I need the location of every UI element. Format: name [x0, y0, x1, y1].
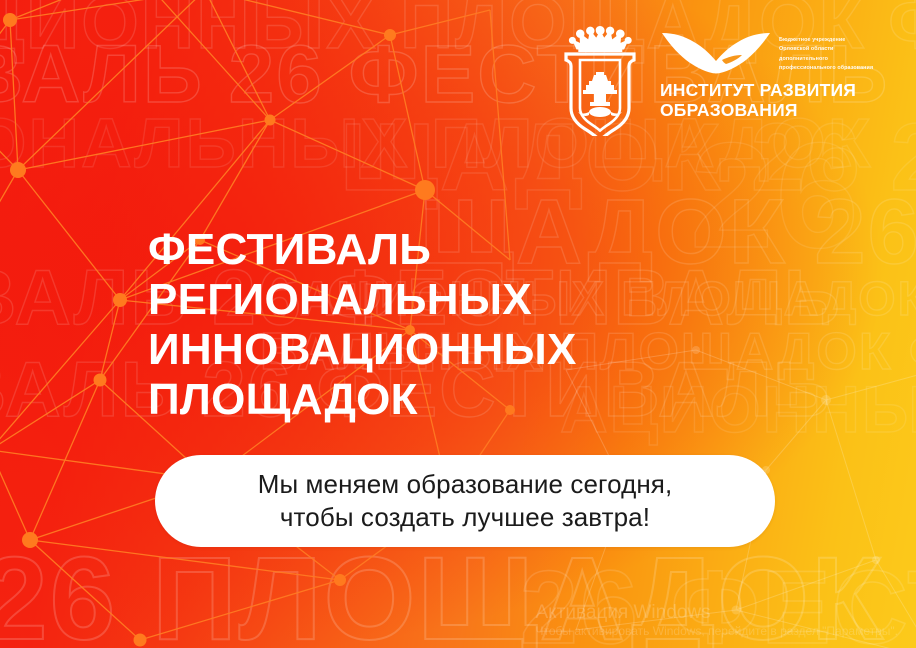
- tagline-line-1: Мы меняем образование сегодня,: [258, 468, 673, 501]
- institute-name-line2: ОБРАЗОВАНИЯ: [660, 101, 877, 121]
- tagline-line-2: чтобы создать лучшее завтра!: [258, 501, 673, 534]
- tagline-pill: Мы меняем образование сегодня, чтобы соз…: [155, 455, 775, 547]
- bird-wing-logo-icon: [660, 30, 772, 78]
- institute-subtitle-line: дополнительного: [779, 55, 877, 64]
- headline-line-4: ПЛОЩАДОК: [148, 375, 577, 425]
- coat-of-arms-icon: [556, 24, 644, 136]
- institute-subtitle-line: Орловской области: [779, 45, 877, 54]
- institute-subtitle: Бюджетное учреждение Орловской области д…: [779, 36, 877, 73]
- institute-name: ИНСТИТУТ РАЗВИТИЯ ОБРАЗОВАНИЯ: [660, 81, 877, 120]
- header-logo-group: Бюджетное учреждение Орловской области д…: [556, 24, 877, 136]
- institute-logo-block: Бюджетное учреждение Орловской области д…: [660, 24, 877, 120]
- poster-canvas: ЦИОННЫХ ПЛОЩАДОК ФЕ ВАЛЬ 26 ФЕСТИВАЛЬ ЩА…: [0, 0, 916, 648]
- institute-subtitle-line: Бюджетное учреждение: [779, 36, 877, 45]
- headline-line-2: РЕГИОНАЛЬНЫХ: [148, 275, 577, 325]
- headline-line-3: ИННОВАЦИОННЫХ: [148, 325, 577, 375]
- headline-line-1: ФЕСТИВАЛЬ: [148, 225, 577, 275]
- institute-name-line1: ИНСТИТУТ РАЗВИТИЯ: [660, 80, 856, 100]
- institute-subtitle-line: профессионального образования: [779, 64, 877, 73]
- tagline-text: Мы меняем образование сегодня, чтобы соз…: [258, 468, 673, 535]
- page-title: ФЕСТИВАЛЬ РЕГИОНАЛЬНЫХ ИННОВАЦИОННЫХ ПЛО…: [148, 225, 577, 425]
